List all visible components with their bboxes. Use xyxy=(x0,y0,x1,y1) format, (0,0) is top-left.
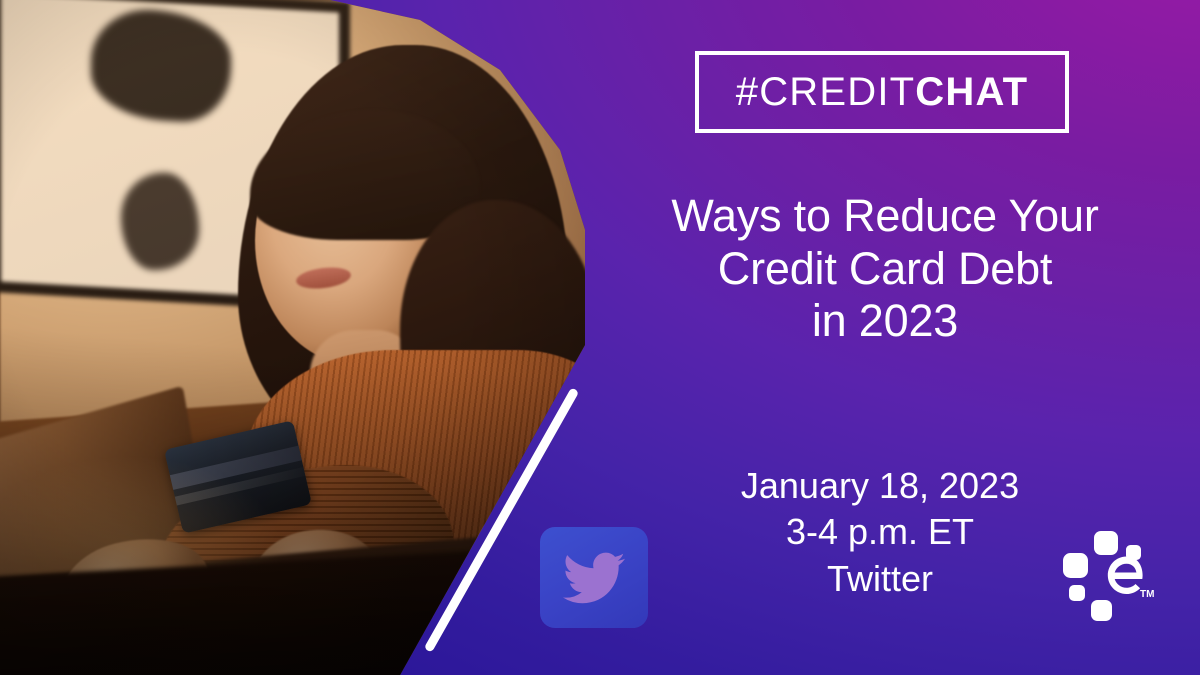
logo-letter-e xyxy=(1108,557,1143,595)
hero-photo xyxy=(0,0,600,675)
logo-square-lower-left xyxy=(1069,585,1085,601)
hashtag-chat-label: CHAT xyxy=(915,70,1028,114)
twitter-badge[interactable] xyxy=(540,527,648,628)
creditchat-promo-graphic: #CREDITCHAT Ways to Reduce Your Credit C… xyxy=(0,0,1200,675)
twitter-bird-icon xyxy=(563,547,625,609)
logo-square-left xyxy=(1063,553,1088,578)
event-platform: Twitter xyxy=(700,556,1060,602)
photo-wall-art-blot-bottom xyxy=(121,170,199,272)
headline-line-1: Ways to Reduce Your xyxy=(620,190,1150,243)
logo-square-top xyxy=(1094,531,1118,555)
headline-line-3: in 2023 xyxy=(620,295,1150,348)
experian-logo-mark: TM xyxy=(1060,527,1160,623)
event-details: January 18, 2023 3-4 p.m. ET Twitter xyxy=(700,463,1060,602)
hashtag-credit-label: #CREDIT xyxy=(736,70,916,114)
hero-photo-image xyxy=(0,0,600,675)
page-title: Ways to Reduce Your Credit Card Debt in … xyxy=(620,190,1150,348)
logo-trademark: TM xyxy=(1140,589,1154,600)
logo-square-bottom xyxy=(1091,600,1112,621)
creditchat-hashtag-badge: #CREDITCHAT xyxy=(695,51,1069,133)
creditchat-hashtag-text: #CREDITCHAT xyxy=(736,72,1028,112)
event-time: 3-4 p.m. ET xyxy=(700,509,1060,555)
headline-line-2: Credit Card Debt xyxy=(620,243,1150,296)
experian-logo: TM xyxy=(1060,527,1160,623)
event-date: January 18, 2023 xyxy=(700,463,1060,509)
photo-wall-art-blot-top xyxy=(91,7,231,125)
